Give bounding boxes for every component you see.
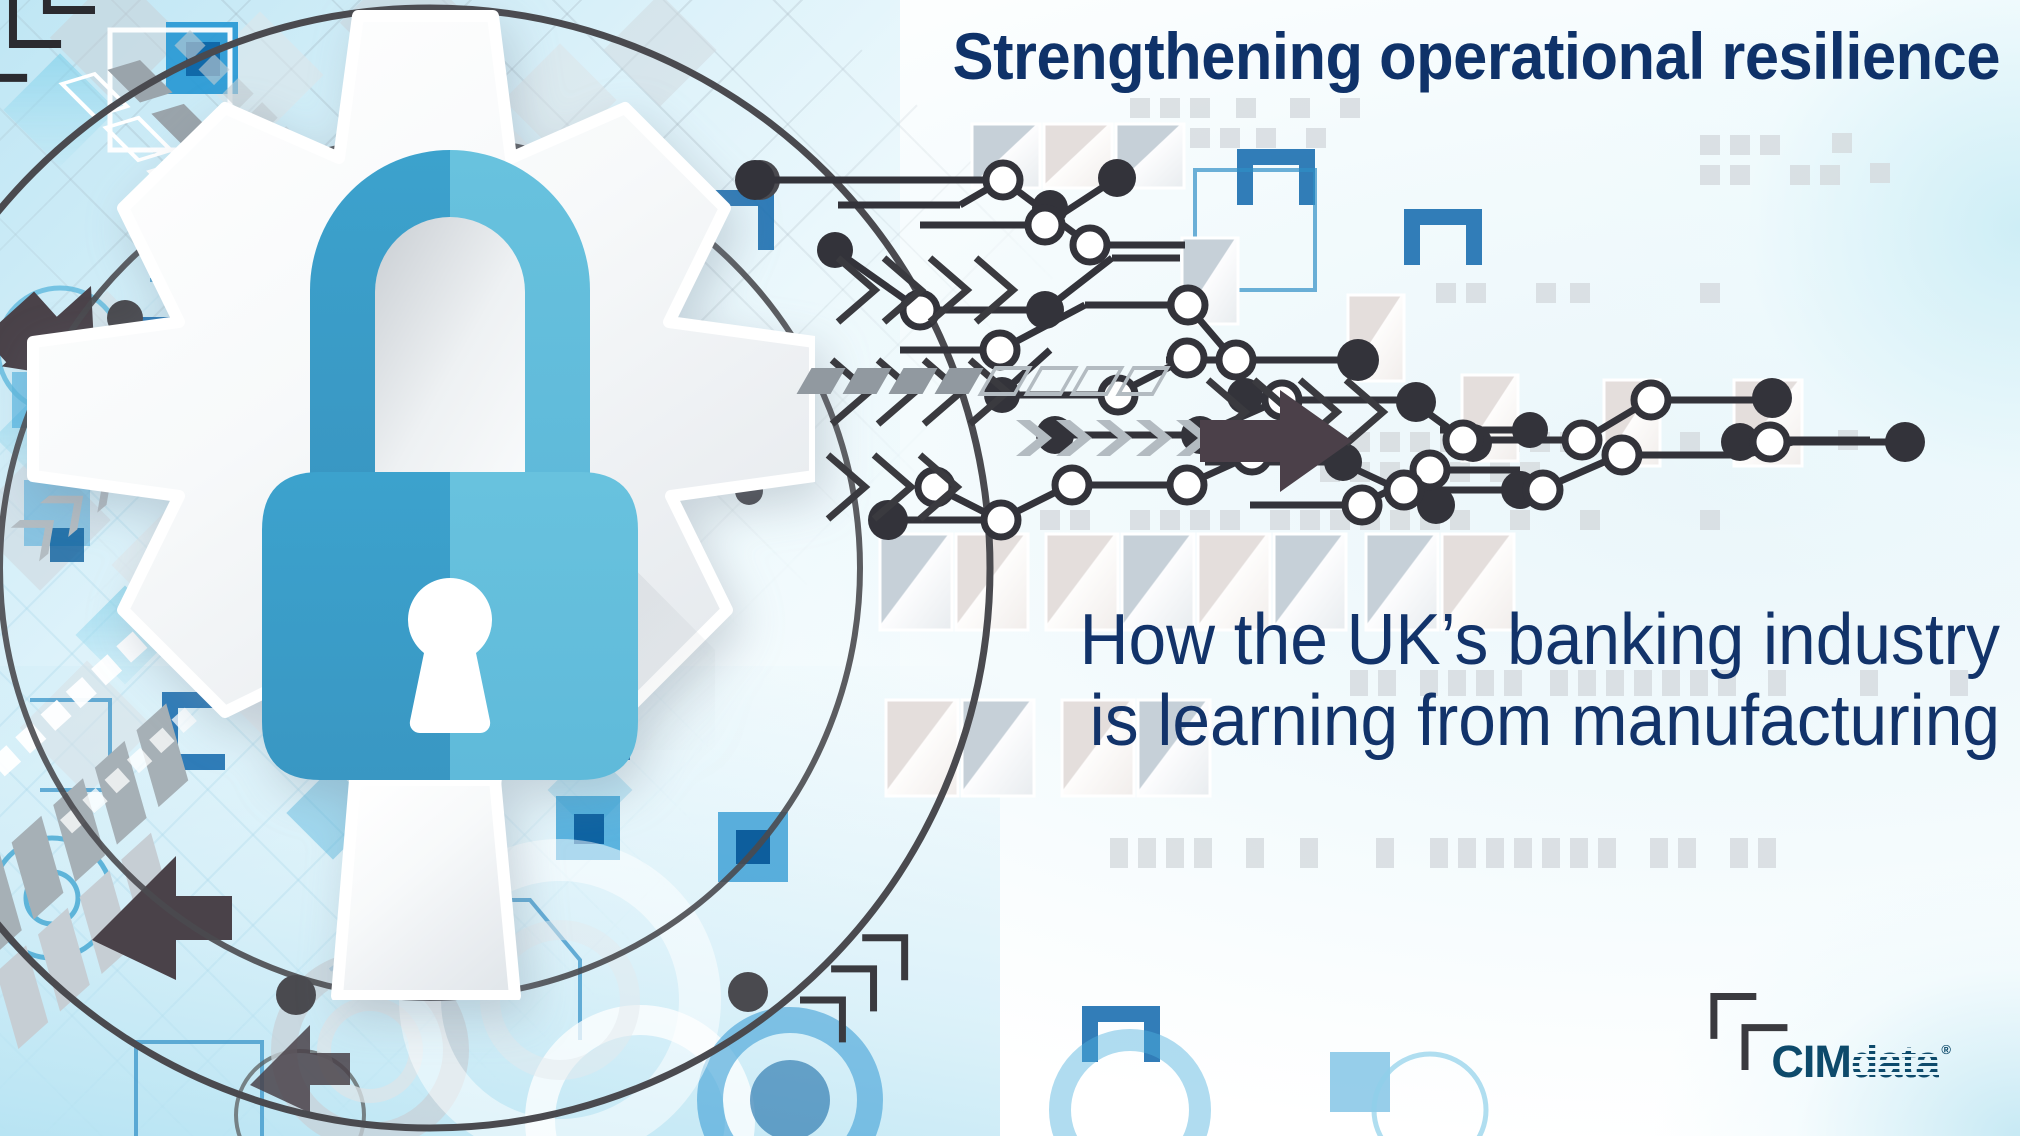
chevron-row-mid-right [1208, 380, 1383, 444]
chevron-row-lower [828, 455, 957, 519]
cimdata-logo: CIM data ® [1771, 1039, 1950, 1084]
circuit-traces [755, 178, 1905, 520]
circuit-node-hollow [903, 163, 1787, 537]
logo-text-cim: CIM [1771, 1039, 1851, 1084]
page-subtitle: How the UK’s banking industry is learnin… [778, 600, 2000, 761]
circuit-node-solid [735, 159, 1925, 540]
glass-panel-row-top [972, 124, 1184, 188]
glass-panel-row-mid [1182, 238, 1802, 466]
dash-belt-right [797, 368, 1212, 456]
padlock-shackle [310, 150, 590, 480]
logo-text-data: data [1851, 1039, 1940, 1084]
registered-trademark-icon: ® [1941, 1043, 1950, 1056]
page-title: Strengthening operational resilience [679, 18, 2000, 94]
poster-canvas: Strengthening operational resilience How… [0, 0, 2020, 1136]
gear-shape [25, 0, 815, 1000]
right-arrow-icon [1200, 390, 1352, 492]
subtitle-line-2: is learning from manufacturing [778, 681, 2000, 762]
gear-stem [337, 780, 515, 996]
chevron-arrow-outline-2 [800, 917, 926, 1043]
chevron-row-mid-left [832, 360, 1007, 424]
chevron-row-upper [838, 258, 1013, 322]
subtitle-line-1: How the UK’s banking industry [778, 600, 2000, 681]
